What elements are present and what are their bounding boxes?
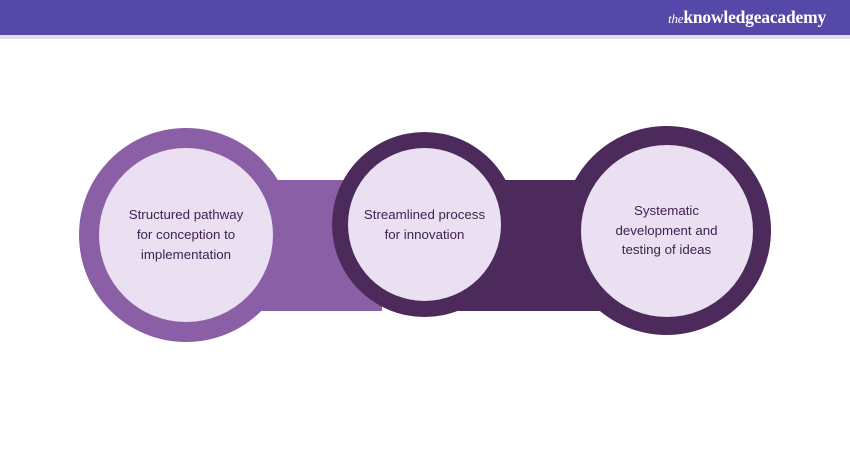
circle-node-2-inner: Streamlined process for innovation (348, 148, 501, 301)
header-bar: theknowledgeacademy (0, 0, 850, 35)
circle-node-3-inner: Systematic development and testing of id… (581, 145, 753, 317)
circle-node-1-inner: Structured pathway for conception to imp… (99, 148, 273, 322)
circle-node-3-label: Systematic development and testing of id… (607, 201, 725, 260)
circle-node-1-label: Structured pathway for conception to imp… (121, 205, 252, 264)
diagram-canvas: Structured pathway for conception to imp… (0, 39, 850, 450)
logo-word-knowledge: knowledge (683, 7, 761, 27)
circle-node-3: Systematic development and testing of id… (562, 126, 771, 335)
circle-node-2-label: Streamlined process for innovation (356, 205, 493, 244)
logo-prefix: the (668, 11, 683, 26)
circle-node-2: Streamlined process for innovation (332, 132, 517, 317)
logo-word-academy: academy (761, 7, 826, 27)
circle-node-1: Structured pathway for conception to imp… (79, 128, 293, 342)
brand-logo: theknowledgeacademy (668, 9, 826, 27)
